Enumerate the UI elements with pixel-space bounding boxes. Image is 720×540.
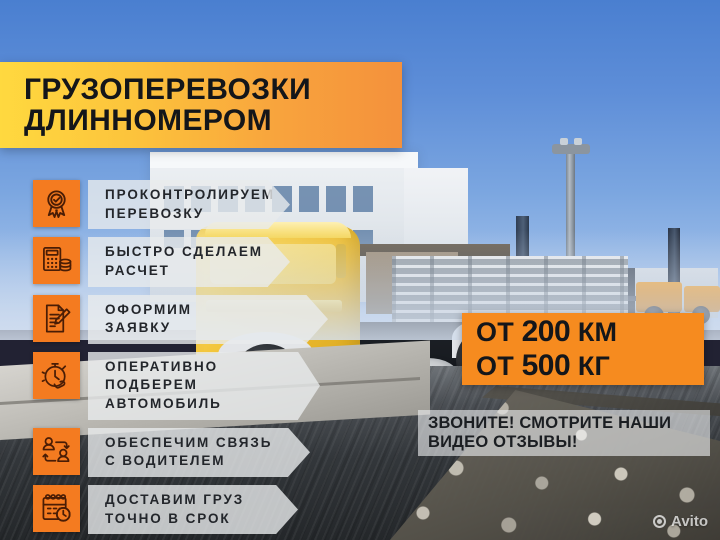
cta-line-2: ВИДЕО ОТЗЫВЫ! [428,433,710,452]
feature-text-line: С ВОДИТЕЛЕМ [105,452,258,471]
feature-text-line: БЫСТРО СДЕЛАЕМ [105,243,238,262]
distance-condition: ОТ 200 КМ [476,315,704,349]
cta-line-1: ЗВОНИТЕ! СМОТРИТЕ НАШИ [428,414,710,433]
light-mast-head [552,144,590,154]
mast-lamp [560,138,568,145]
two-persons-exchange-icon [33,428,80,475]
headline-line-2: ДЛИННОМЕРОМ [24,105,402,136]
price-conditions-box: ОТ 200 КМ ОТ 500 КГ [462,313,704,385]
feature-list: ПРОКОНТРОЛИРУЕМ ПЕРЕВОЗКУ [33,180,306,540]
stopwatch-hand-icon [33,352,80,399]
feature-panel: ДОСТАВИМ ГРУЗ ТОЧНО В СРОК [88,485,276,534]
feature-text-line: ЗАЯВКУ [105,319,276,338]
mast-lamp [574,138,582,145]
calculator-coins-icon [33,237,80,284]
calendar-clock-icon [33,485,80,532]
panel-arrow-tip [276,485,298,534]
feature-panel: ОФОРМИМ ЗАЯВКУ [88,295,306,344]
building-window [326,186,346,212]
feature-item: ОПЕРАТИВНО ПОДБЕРЕМ АВТОМОБИЛЬ [33,352,306,420]
headline-banner: ГРУЗОПЕРЕВОЗКИ ДЛИННОМЕРОМ [0,62,402,148]
feature-item: ОБЕСПЕЧИМ СВЯЗЬ С ВОДИТЕЛЕМ [33,428,306,477]
feature-panel: ПРОКОНТРОЛИРУЕМ ПЕРЕВОЗКУ [88,180,268,229]
distance-value: 200 [522,315,571,348]
feature-text-line: ПОДБЕРЕМ [105,376,268,395]
feature-text-line: АВТОМОБИЛЬ [105,395,268,414]
headline-line-1: ГРУЗОПЕРЕВОЗКИ [24,74,402,105]
avito-watermark: Avito [653,513,708,530]
document-pen-icon [33,295,80,342]
feature-item: ПРОКОНТРОЛИРУЕМ ПЕРЕВОЗКУ [33,180,306,229]
panel-arrow-tip [268,180,290,229]
building-window [353,186,373,212]
weight-condition: ОТ 500 КГ [476,349,704,383]
weight-prefix: ОТ [476,351,514,381]
weight-value: 500 [522,349,571,382]
feature-text-line: ДОСТАВИМ ГРУЗ [105,491,246,510]
feature-item: ДОСТАВИМ ГРУЗ ТОЧНО В СРОК [33,485,306,534]
feature-panel: ОБЕСПЕЧИМ СВЯЗЬ С ВОДИТЕЛЕМ [88,428,288,477]
feature-text-line: РАСЧЕТ [105,262,238,281]
feature-text-line: ОПЕРАТИВНО [105,358,268,377]
feature-text-line: ТОЧНО В СРОК [105,510,246,529]
weight-unit: КГ [578,351,610,381]
feature-panel: БЫСТРО СДЕЛАЕМ РАСЧЕТ [88,237,268,286]
feature-text-line: ПЕРЕВОЗКУ [105,205,238,224]
feature-text-line: ПРОКОНТРОЛИРУЕМ [105,186,238,205]
feature-item: ОФОРМИМ ЗАЯВКУ [33,295,306,344]
avito-logo-icon [653,515,666,528]
panel-arrow-tip [268,237,290,286]
feature-panel: ОПЕРАТИВНО ПОДБЕРЕМ АВТОМОБИЛЬ [88,352,298,420]
distance-unit: КМ [578,317,617,347]
advertisement-image: ГРУЗОПЕРЕВОЗКИ ДЛИННОМЕРОМ ПРОКОНТРОЛИРУ… [0,0,720,540]
feature-item: БЫСТРО СДЕЛАЕМ РАСЧЕТ [33,237,306,286]
avito-watermark-label: Avito [671,513,708,530]
feature-text-line: ОБЕСПЕЧИМ СВЯЗЬ [105,434,258,453]
award-ribbon-icon [33,180,80,227]
call-to-action: ЗВОНИТЕ! СМОТРИТЕ НАШИ ВИДЕО ОТЗЫВЫ! [418,410,710,456]
feature-text-line: ОФОРМИМ [105,301,276,320]
distance-prefix: ОТ [476,317,514,347]
